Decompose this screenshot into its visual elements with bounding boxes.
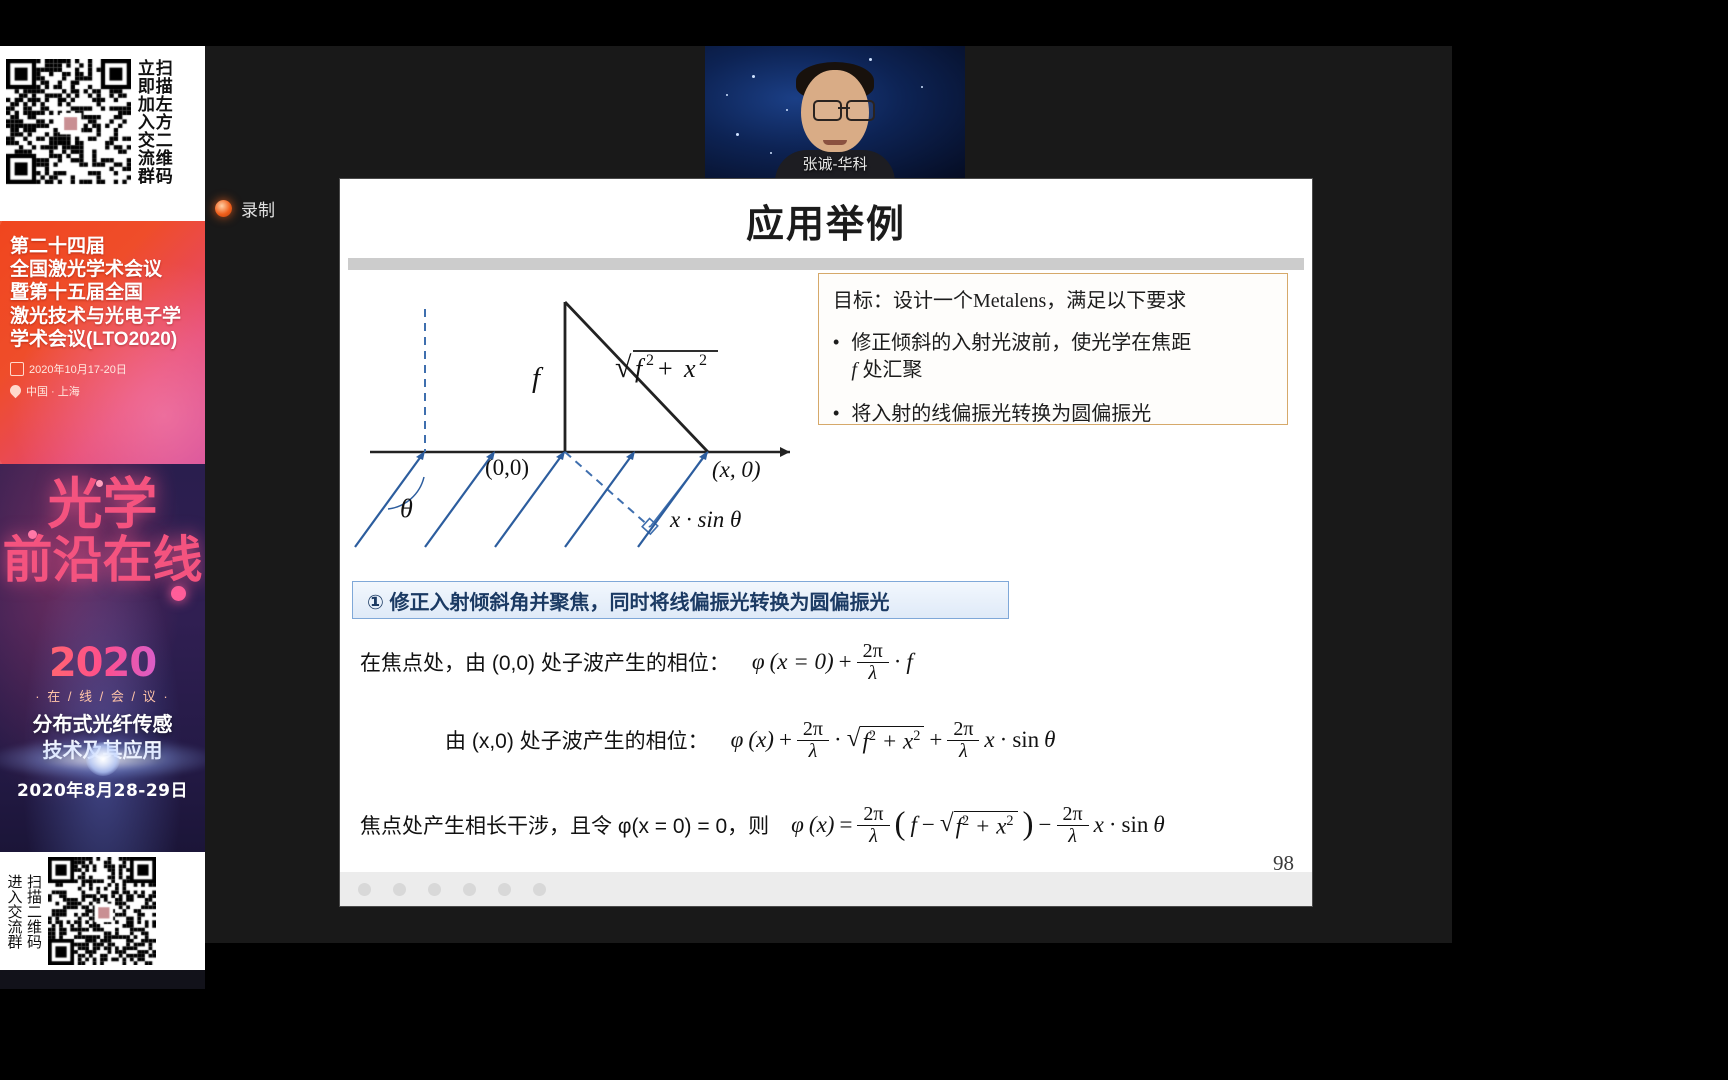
svg-text:+: + <box>658 354 673 383</box>
participant-video-tile[interactable]: 张诚-华科 <box>705 46 965 178</box>
highlight-box: ① 修正入射倾斜角并聚焦，同时将线偏振光转换为圆偏振光 <box>352 581 1009 619</box>
conference-line-2: 全国激光学术会议 <box>10 258 195 281</box>
record-dot-icon <box>215 200 232 217</box>
conference-date-row: 2020年10月17-20日 <box>10 361 195 377</box>
conference-date: 2020年10月17-20日 <box>29 361 127 377</box>
glasses-icon <box>813 100 875 117</box>
slide-nav-dot[interactable] <box>393 883 406 896</box>
calendar-icon <box>10 362 24 376</box>
top-qr-line-1: 扫描左方二维码 <box>153 59 171 209</box>
bottom-qr-line-2: 扫描二维码 <box>26 874 43 949</box>
qr-code-icon[interactable] <box>6 59 131 209</box>
poster-year: 2020 <box>0 640 205 686</box>
bottom-qr-line-1: 进入交流群 <box>6 874 23 949</box>
conference-banner: 第二十四届 全国激光学术会议 暨第十五届全国 激光技术与光电子学 学术会议(LT… <box>0 221 205 464</box>
poster-banner: 光学 前沿在线 2020 · 在 / 线 / 会 / 议 · 分布式光纤传感 技… <box>0 464 205 852</box>
bullet-marker-icon: • <box>833 401 839 428</box>
slide-nav-dot[interactable] <box>498 883 511 896</box>
poster-brush-line-2: 前沿在线 <box>0 536 205 584</box>
label-f: f <box>532 362 544 394</box>
equation-row-1: 在焦点处，由 (0,0) 处子波产生的相位： φ(x = 0) + 2πλ · … <box>360 641 913 684</box>
conference-line-1: 第二十四届 <box>10 235 195 258</box>
equation-row-2: 由 (x,0) 处子波产生的相位： φ(x) + 2πλ · √f2 + x2 … <box>445 719 1055 762</box>
screen-root: 扫描左方二维码 立即加入交流群 第二十四届 全国激光学术会议 暨第十五届全国 激… <box>0 0 1728 1080</box>
top-qr-line-2: 立即加入交流群 <box>135 59 153 209</box>
promo-sidebar: 扫描左方二维码 立即加入交流群 第二十四届 全国激光学术会议 暨第十五届全国 激… <box>0 46 205 989</box>
equation-row-3: 焦点处产生相长干涉，且令 φ(x = 0) = 0，则 φ(x) = 2πλ (… <box>360 804 1165 847</box>
top-qr-panel: 扫描左方二维码 立即加入交流群 <box>0 46 205 221</box>
svg-text:2: 2 <box>646 352 654 369</box>
slide-title: 应用举例 <box>340 193 1312 248</box>
goal-bullet-1-italic: f <box>851 359 857 381</box>
recording-label: 录制 <box>241 196 275 221</box>
goal-textbox: 目标：设计一个Metalens，满足以下要求 • 修正倾斜的入射光波前，使光学在… <box>818 273 1288 425</box>
goal-bullet-1: • 修正倾斜的入射光波前，使光学在焦距 f 处汇聚 <box>833 330 1273 384</box>
slide-nav-dot[interactable] <box>428 883 441 896</box>
label-hypotenuse: √ f 2 + x 2 <box>615 351 718 384</box>
participant-name-label: 张诚-华科 <box>705 153 965 174</box>
conference-location: 中国 · 上海 <box>26 383 80 399</box>
mouth-shape <box>823 140 847 145</box>
svg-text:√: √ <box>615 351 632 384</box>
conference-location-row: 中国 · 上海 <box>10 383 195 399</box>
goal-bullet-2: • 将入射的线偏振光转换为圆偏振光 <box>833 401 1273 428</box>
svg-text:2: 2 <box>699 352 707 369</box>
poster-title-line-1: 分布式光纤传感 <box>0 712 205 738</box>
label-origin: (0,0) <box>485 455 529 480</box>
poster-brush-line-1: 光学 <box>47 471 157 536</box>
optics-diagram: f θ (0,0) (x, 0) x · sin θ √ f 2 + x 2 <box>350 277 810 552</box>
goal-bullet-2-text: 将入射的线偏振光转换为圆偏振光 <box>851 401 1151 428</box>
conference-line-5: 学术会议(LTO2020) <box>10 328 195 351</box>
label-theta: θ <box>400 494 413 523</box>
slide-nav-dot[interactable] <box>533 883 546 896</box>
conference-line-4: 激光技术与光电子学 <box>10 305 195 328</box>
equation-2-expression: φ(x) + 2πλ · √f2 + x2 + 2πλ x · sinθ <box>731 719 1056 762</box>
svg-text:f: f <box>635 354 646 383</box>
presentation-slide[interactable]: 应用举例 <box>340 179 1312 906</box>
slide-nav-dot[interactable] <box>463 883 476 896</box>
highlight-box-text: ① 修正入射倾斜角并聚焦，同时将线偏振光转换为圆偏振光 <box>367 586 890 615</box>
goal-heading: 目标：设计一个Metalens，满足以下要求 <box>833 284 1273 313</box>
svg-text:x: x <box>683 354 696 383</box>
meeting-stage: 张诚-华科 录制 应用举例 <box>205 46 1452 943</box>
lens-flare-core <box>86 742 120 776</box>
equation-3-label: 焦点处产生相长干涉，且令 φ(x = 0) = 0，则 <box>360 810 769 840</box>
label-point-x: (x, 0) <box>712 457 761 482</box>
goal-bullet-1-part1: 修正倾斜的入射光波前，使光学在焦距 <box>851 332 1191 354</box>
equation-3-expression: φ(x) = 2πλ ( f − √f2 + x2 ) − 2πλ x · si… <box>791 804 1165 847</box>
face-shape <box>801 70 869 152</box>
top-qr-text: 扫描左方二维码 立即加入交流群 <box>135 59 171 209</box>
slide-bottom-bar[interactable] <box>340 872 1312 906</box>
equation-1-label: 在焦点处，由 (0,0) 处子波产生的相位： <box>360 647 730 677</box>
conference-line-3: 暨第十五届全国 <box>10 281 195 304</box>
recording-indicator[interactable]: 录制 <box>215 196 275 221</box>
bottom-qr-panel: 进入交流群 扫描二维码 <box>0 852 205 970</box>
title-divider <box>348 258 1304 270</box>
slide-nav-dot[interactable] <box>358 883 371 896</box>
map-pin-icon <box>8 383 24 399</box>
poster-subtitle: · 在 / 线 / 会 / 议 · <box>0 686 205 705</box>
bullet-marker-icon: • <box>833 330 839 384</box>
poster-brush-text: 光学 前沿在线 <box>0 478 205 584</box>
goal-bullet-1-text: 修正倾斜的入射光波前，使光学在焦距 f 处汇聚 <box>851 330 1191 384</box>
equation-2-label: 由 (x,0) 处子波产生的相位： <box>445 725 709 755</box>
label-x-sin-theta: x · sin θ <box>669 507 741 532</box>
equation-1-expression: φ(x = 0) + 2πλ · f <box>752 641 913 684</box>
goal-bullet-1-part2: 处汇聚 <box>862 359 922 381</box>
qr-code-icon[interactable] <box>48 857 156 965</box>
